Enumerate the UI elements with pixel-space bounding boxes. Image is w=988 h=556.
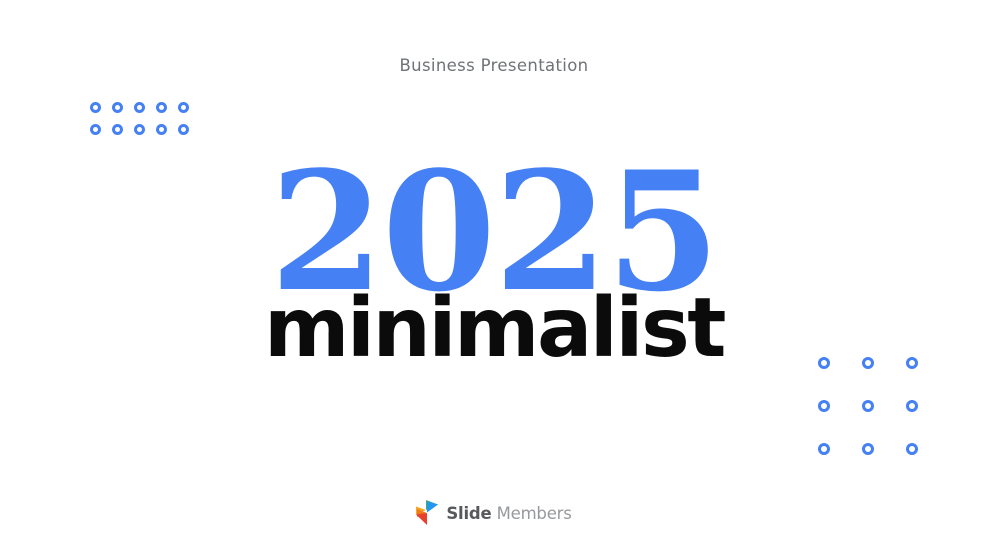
ring-dot-icon — [818, 400, 830, 412]
ring-dot-icon — [90, 124, 101, 135]
ring-dot-icon — [818, 357, 830, 369]
ring-dot-icon — [906, 443, 918, 455]
ring-dot-icon — [112, 102, 123, 113]
ring-dot-icon — [90, 102, 101, 113]
headline-year: 2025 — [0, 150, 988, 314]
ring-dot-icon — [178, 124, 189, 135]
ring-dot-icon — [906, 357, 918, 369]
ring-dot-icon — [862, 400, 874, 412]
ring-dot-icon — [156, 124, 167, 135]
ring-dot-icon — [906, 400, 918, 412]
ring-dot-icon — [818, 443, 830, 455]
logo-brand-light: Members — [492, 504, 572, 523]
ring-dot-icon — [134, 124, 145, 135]
dot-grid-top-left — [90, 102, 200, 146]
slidemembers-pinwheel-icon — [416, 500, 440, 526]
logo-wordmark: Slide Members — [446, 506, 571, 523]
ring-dot-icon — [862, 443, 874, 455]
ring-dot-icon — [112, 124, 123, 135]
logo-brand-bold: Slide — [446, 504, 491, 523]
ring-dot-icon — [134, 102, 145, 113]
title-slide: Business Presentation 2025 minimalist — [0, 0, 988, 556]
ring-dot-icon — [156, 102, 167, 113]
dot-grid-bottom-right — [818, 357, 950, 486]
footer-logo: Slide Members — [0, 500, 988, 526]
slide-eyebrow: Business Presentation — [0, 56, 988, 75]
ring-dot-icon — [178, 102, 189, 113]
ring-dot-icon — [862, 357, 874, 369]
